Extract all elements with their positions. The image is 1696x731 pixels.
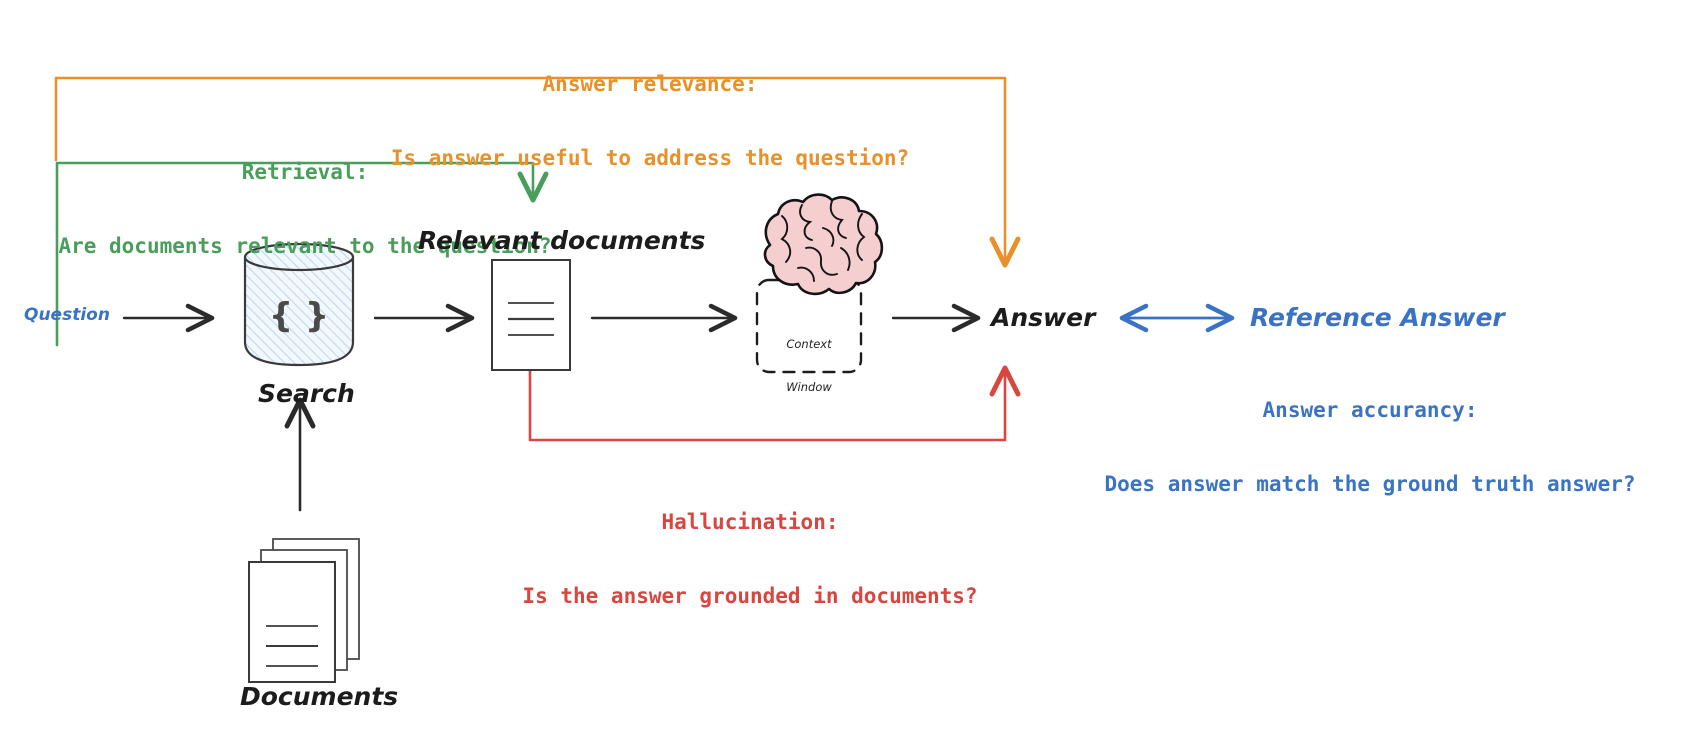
node-label-search: Search bbox=[258, 379, 355, 409]
hallucination-line2: Is the answer grounded in documents? bbox=[430, 584, 1070, 609]
answer-accuracy-line2: Does answer match the ground truth answe… bbox=[1055, 472, 1685, 497]
node-label-context-window: Context Window bbox=[757, 308, 861, 423]
answer-accuracy-annotation: Answer accurancy: Does answer match the … bbox=[1055, 348, 1685, 546]
diagram-canvas: { } bbox=[0, 0, 1696, 731]
context-window-line1: Context bbox=[757, 337, 861, 351]
node-label-documents: Documents bbox=[240, 682, 398, 712]
documents-stack-icon bbox=[249, 539, 359, 682]
hallucination-line1: Hallucination: bbox=[430, 510, 1070, 535]
node-label-relevant-documents: Relevant documents bbox=[418, 226, 705, 256]
node-label-answer: Answer bbox=[991, 303, 1095, 333]
answer-relevance-line1: Answer relevance: bbox=[250, 72, 1050, 97]
node-label-question: Question bbox=[24, 305, 110, 325]
retrieval-annotation: Retrieval: Are documents relevant to the… bbox=[0, 110, 655, 308]
answer-accuracy-line1: Answer accurancy: bbox=[1055, 398, 1685, 423]
context-window-line2: Window bbox=[757, 380, 861, 394]
retrieval-line1: Retrieval: bbox=[0, 160, 655, 185]
node-label-reference-answer: Reference Answer bbox=[1250, 303, 1505, 333]
